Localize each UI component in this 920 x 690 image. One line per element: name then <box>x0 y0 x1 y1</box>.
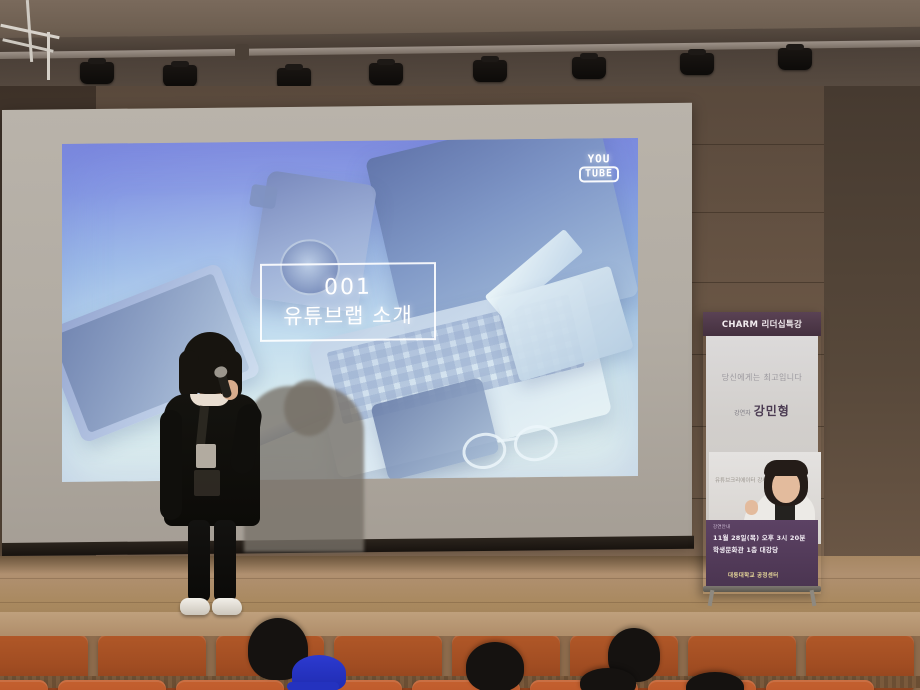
banner-footer-line2: 학생문화관 1층 대강당 <box>713 544 818 554</box>
rollup-banner: CHARM 리더십특강 당신에게는 최고입니다 강연자 강민형 유튜브크리에이터… <box>703 312 821 594</box>
banner-body: 당신에게는 최고입니다 강연자 강민형 유튜브크리에이터 강사 <box>706 336 818 520</box>
slide-title-box: 001 유튜브랩 소개 <box>260 262 436 342</box>
hall-floor-band <box>0 612 920 638</box>
audience-seating <box>0 636 920 690</box>
banner-header-text: CHARM 리더십특강 <box>722 318 802 330</box>
spotlight-icon <box>680 53 714 75</box>
audience-head <box>580 668 636 690</box>
ceiling-drop-rod <box>47 32 50 80</box>
ceiling-fixture-knob <box>235 44 249 60</box>
slide-title: 유튜브랩 소개 <box>283 305 413 327</box>
presenter-shoe <box>180 598 210 615</box>
spotlight-icon <box>163 65 197 87</box>
banner-footer-line1: 11월 28일(목) 오후 3시 20분 <box>713 532 818 542</box>
audience-cap <box>292 655 346 690</box>
presenter <box>150 332 270 620</box>
lecture-hall-photo: 001 유튜브랩 소개 YOU TUBE <box>0 0 920 690</box>
spotlight-icon <box>473 60 507 82</box>
audience-head <box>466 642 524 690</box>
youtube-logo: YOU TUBE <box>574 148 624 187</box>
spotlight-icon <box>778 48 812 70</box>
spotlight-icon <box>80 62 114 84</box>
slide-number: 001 <box>324 277 372 300</box>
presenter-shoe <box>212 598 242 615</box>
banner-slogan: 당신에게는 최고입니다 <box>706 372 818 383</box>
banner-footer-tag: 대동대학교 공정센터 <box>728 571 778 579</box>
youtube-logo-line2: TUBE <box>579 166 619 182</box>
youtube-logo-line1: YOU <box>588 153 611 164</box>
banner-header-bar: CHARM 리더십특강 <box>703 312 821 336</box>
presenter-name-tag <box>196 444 216 468</box>
banner-role-label: 강연자 <box>734 408 751 417</box>
banner-speaker-row: 강연자 강민형 <box>706 402 818 419</box>
banner-speaker-name: 강민형 <box>754 402 790 419</box>
spotlight-icon <box>572 57 606 79</box>
wall-right-panel <box>824 86 920 556</box>
banner-base <box>703 586 821 592</box>
screen-floor-shadow <box>0 556 720 574</box>
banner-footer-small: 강연안내 <box>713 524 818 530</box>
spotlight-icon <box>369 63 403 85</box>
banner-photo-caption: 유튜브크리에이터 강사 <box>715 476 767 484</box>
banner-footer-block: 강연안내 11월 28일(목) 오후 3시 20분 학생문화관 1층 대강당 대… <box>706 520 818 586</box>
